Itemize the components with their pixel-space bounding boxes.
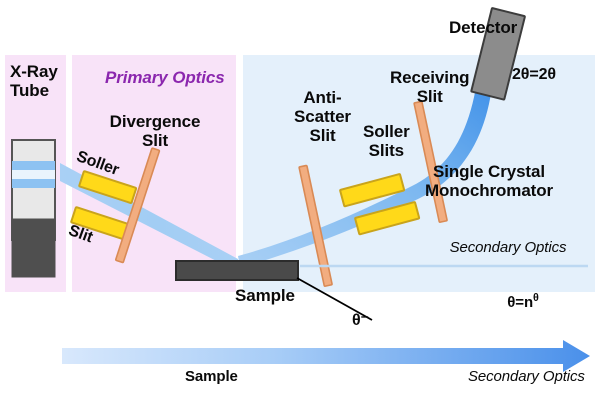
label-monochromator: Single Crystal Monochromator <box>425 162 553 200</box>
label-detector: Detector <box>449 18 517 37</box>
label-two-theta: 2θ=2θ <box>512 66 556 84</box>
label-divergence-slit: Divergence Slit <box>110 112 201 150</box>
label-receiving-slit: Receiving Slit <box>390 68 469 106</box>
label-anti-scatter-slit: Anti- Scatter Slit <box>294 88 351 145</box>
label-primary-optics: Primary Optics <box>105 68 225 87</box>
label-bottom-secondary-optics: Secondary Optics <box>468 369 585 386</box>
label-theta-minus: θ⁻ <box>352 312 369 330</box>
label-theta-n: θ=nθ <box>491 275 539 328</box>
label-theta-n-base: θ=n <box>507 294 533 311</box>
diagram-canvas: X-Ray Tube Primary Optics Divergence Sli… <box>0 0 600 400</box>
label-theta-n-superscript: θ <box>533 292 539 304</box>
label-xray-tube: X-Ray Tube <box>10 62 58 100</box>
label-bottom-sample: Sample <box>185 369 238 386</box>
xray-tube <box>12 140 55 277</box>
label-sample: Sample <box>235 286 295 305</box>
sample-block <box>176 261 298 280</box>
label-soller-slits: Soller Slits <box>363 122 410 160</box>
label-secondary-optics: Secondary Optics <box>450 240 567 257</box>
